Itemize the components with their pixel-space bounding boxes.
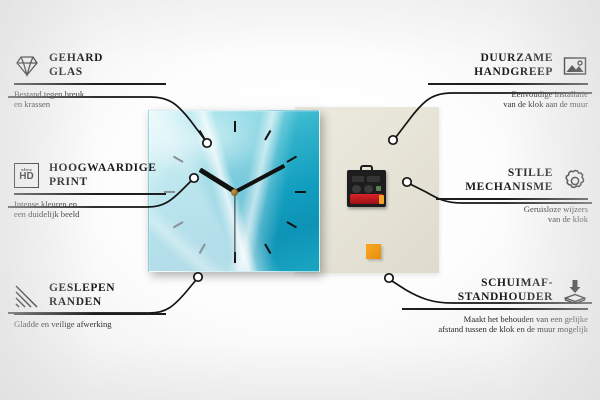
hour-tick [234,121,236,132]
feature-schuimafstandhouder: SCHUIMAF- STANDHOUDER Maakt het behouden… [402,277,588,335]
feature-header: GEHARD GLAS [14,52,166,79]
mechanism-detail [367,176,380,182]
feature-header: GESLEPEN RANDEN [14,282,166,309]
ultra-hd-icon: ultraHD [14,163,40,189]
divider [436,198,588,200]
feature-title: DUURZAME HANDGREEP [474,52,553,79]
picture-frame-icon [562,53,588,79]
divider [14,313,166,315]
product-infographic: GEHARD GLAS Bestand tegen breuk en krass… [0,0,600,400]
feature-duurzame-handgreep: DUURZAME HANDGREEP Eenvoudige installati… [428,52,588,110]
feature-hoogwaardige-print: ultraHD HOOGWAARDIGE PRINT Intense kleur… [14,162,166,220]
diamond-icon [14,53,40,79]
feature-desc: Gladde en veilige afwerking [14,319,166,330]
feature-title: STILLE MECHANISME [465,167,553,194]
gear-icon [562,168,588,194]
divider [402,308,588,310]
feature-desc: Eenvoudige installatie van de klok aan d… [428,89,588,110]
feature-header: STILLE MECHANISME [436,167,588,194]
mechanism-detail [376,186,381,191]
feature-title: HOOGWAARDIGE PRINT [49,162,157,189]
clock-mechanism [347,170,386,207]
foam-spacer [366,244,381,259]
foam-spacer-icon [562,278,588,304]
feature-title: SCHUIMAF- STANDHOUDER [458,277,553,304]
divider [14,193,166,195]
feature-desc: Bestand tegen breuk en krassen [14,89,166,110]
feature-desc: Geruisloze wijzers van de klok [436,204,588,225]
feature-title: GESLEPEN RANDEN [49,282,115,309]
feature-title: GEHARD GLAS [49,52,103,79]
feature-header: DUURZAME HANDGREEP [428,52,588,79]
callout-dot [385,274,393,282]
beveled-edge-icon [14,283,40,309]
divider [14,83,166,85]
feature-header: ultraHD HOOGWAARDIGE PRINT [14,162,166,189]
divider [428,83,588,85]
hour-tick [295,191,306,193]
wall-clock-product [148,110,320,272]
feature-gehard-glas: GEHARD GLAS Bestand tegen breuk en krass… [14,52,166,110]
mechanism-detail [352,185,361,193]
feature-desc: Intense kleuren en een duidelijk beeld [14,199,166,220]
feature-header: SCHUIMAF- STANDHOUDER [402,277,588,304]
mechanism-detail [364,185,373,193]
feature-geslepen-randen: GESLEPEN RANDEN Gladde en veilige afwerk… [14,282,166,329]
mechanism-detail [352,176,364,182]
callout-dot [194,273,202,281]
clock-center-cap [231,189,238,196]
feature-stille-mechanisme: STILLE MECHANISME Geruisloze wijzers van… [436,167,588,225]
feature-desc: Maakt het behouden van een gelijke afsta… [402,314,588,335]
battery-plus-terminal [379,195,384,204]
